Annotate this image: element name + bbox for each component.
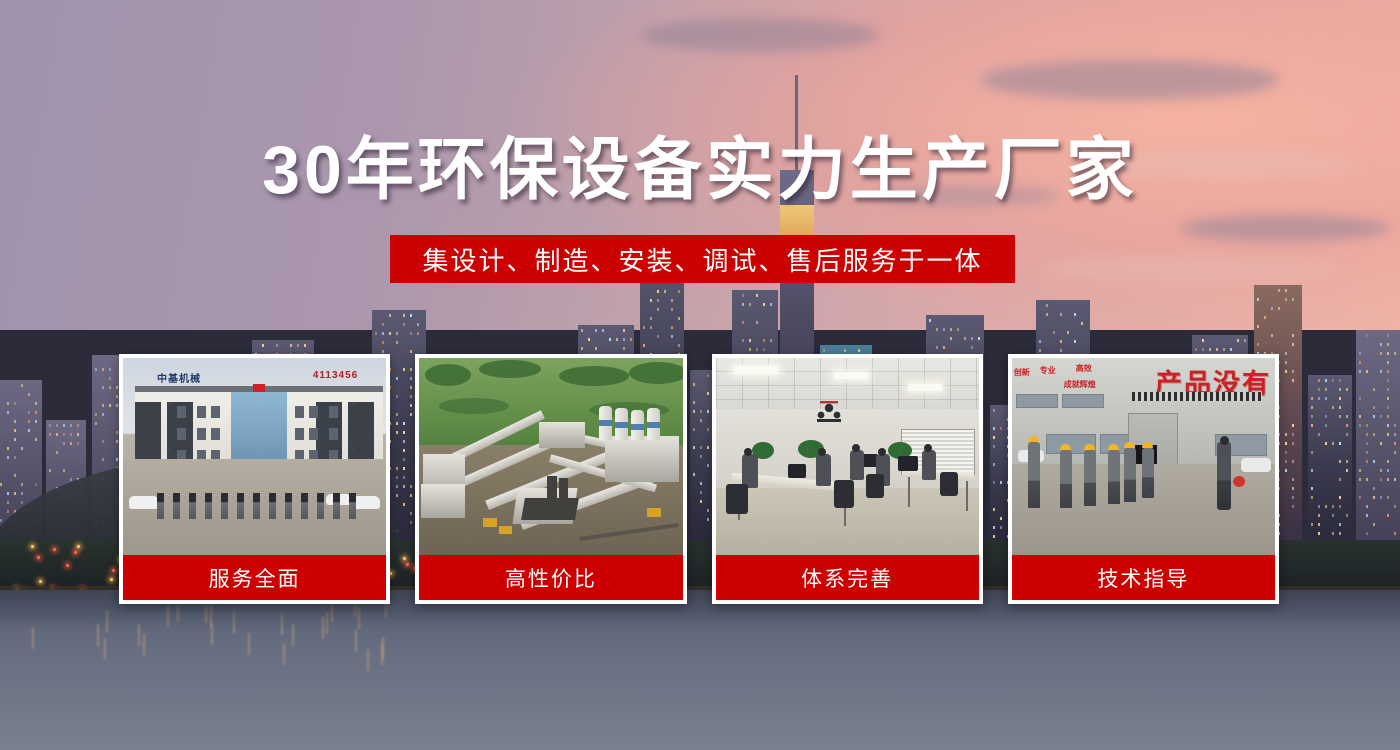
building-window [1230,348,1232,351]
building-window [1271,334,1273,337]
building-window [1387,433,1389,436]
building-window [1394,442,1396,445]
building-window [1285,361,1287,364]
building-window [1292,460,1294,463]
building-window [290,344,292,347]
feature-card-service[interactable]: 中基机械 4113456 [119,354,390,604]
building-window [1366,505,1368,508]
wall-slogan-2: 专业 [1040,366,1056,375]
building-window [1074,340,1076,343]
building-window [102,404,104,407]
building-window [1387,424,1389,427]
water-reflection [367,649,369,671]
building-window [1373,388,1375,391]
building-window [1346,460,1348,463]
building-window [1387,469,1389,472]
wall-slogan-1: 创新 [1014,368,1030,377]
building-window [1292,379,1294,382]
water-reflection [97,624,99,646]
building-window [1325,415,1327,418]
building-window [1380,496,1382,499]
building-window [1339,505,1341,508]
building-window [21,447,23,450]
street-lamp [77,545,80,548]
water-reflection [143,634,145,656]
building-window [410,332,412,335]
building-window [1366,442,1368,445]
building-window [1332,532,1334,535]
water-reflection [138,624,140,646]
building-window [102,368,104,371]
building-phone-text: 4113456 [313,370,358,381]
water-reflection [205,601,207,623]
building-window [957,328,959,331]
building-window [1285,451,1287,454]
building-window [1394,352,1396,355]
building-window [49,433,51,436]
building-window [304,344,306,347]
building-window [763,348,765,351]
building-window [1387,514,1389,517]
building-window [1346,388,1348,391]
building-window [1318,532,1320,535]
building-window [77,442,79,445]
building-window [1292,334,1294,337]
building-window [964,337,966,340]
building-window [657,299,659,302]
building-window [102,413,104,416]
building-window [643,344,645,347]
building-window [1387,478,1389,481]
building-window [1359,397,1361,400]
street-lamp [39,580,42,583]
building-window [14,420,16,423]
building-window [7,510,9,513]
building-window [109,377,111,380]
page-title: 30年环保设备实力生产厂家 [0,136,1400,204]
building-window [1373,460,1375,463]
building-window [1257,298,1259,301]
building-window [971,346,973,349]
building-window [588,338,590,341]
street-lamp [31,545,34,548]
building-window [77,424,79,427]
building-window [1359,352,1361,355]
building-window [28,393,30,396]
building-window [1202,348,1204,351]
building-window [1359,496,1361,499]
building-window [1387,406,1389,409]
building-window [1387,397,1389,400]
building-window [382,341,384,344]
street-lamp [110,578,113,581]
wall-decal-icon [812,400,846,426]
building-window [1292,424,1294,427]
building-window [21,492,23,495]
building-window [116,431,118,434]
building-window [403,323,405,326]
building-window [1060,349,1062,352]
building-window [1257,343,1259,346]
building-window [70,424,72,427]
building-window [1292,487,1294,490]
building-window [21,384,23,387]
building-window [116,458,118,461]
building-window [978,337,980,340]
building-window [276,344,278,347]
building-window [1311,397,1313,400]
building-window [102,386,104,389]
building-window [1366,424,1368,427]
building-window [1380,442,1382,445]
building-window [1373,487,1375,490]
building-window [7,492,9,495]
building-window [1311,496,1313,499]
building-window [56,433,58,436]
building-window [858,349,860,352]
building-window [1339,496,1341,499]
building [1308,375,1352,540]
water-reflection [248,633,250,655]
card-caption: 服务全面 [123,555,386,600]
building-window [1292,343,1294,346]
card-caption: 技术指导 [1012,555,1275,600]
building-window [1332,406,1334,409]
building-window [1387,343,1389,346]
building-window [1074,313,1076,316]
building-window [971,337,973,340]
building-window [1046,313,1048,316]
building-window [410,350,412,353]
water-reflection [283,643,285,665]
water-reflection [355,630,357,652]
building-window [844,349,846,352]
water-reflection [106,610,108,632]
building-window [1394,505,1396,508]
street-lamp [74,551,77,554]
water-reflection [32,627,34,649]
building-window [1060,313,1062,316]
building-window [581,347,583,350]
building-window [262,344,264,347]
building-window [763,339,765,342]
building-window [1359,424,1361,427]
building-window [417,323,419,326]
building-window [1359,478,1361,481]
building-window [70,442,72,445]
building-window [1387,334,1389,337]
building-window [1366,370,1368,373]
water-reflection [281,613,283,635]
building-window [7,501,9,504]
building-window [382,350,384,353]
building-window [1332,442,1334,445]
building-window [1067,331,1069,334]
building-window [1202,339,1204,342]
building-window [1339,460,1341,463]
building-window [1325,388,1327,391]
building-window [650,326,652,329]
building-window [1346,415,1348,418]
building-window [396,332,398,335]
building-window [671,326,673,329]
building-window [14,429,16,432]
building-window [1387,496,1389,499]
building-window [1311,406,1313,409]
building-window [1373,433,1375,436]
hero-banner: 30年环保设备实力生产厂家 集设计、制造、安装、调试、售后服务于一体 [0,0,1400,750]
building-window [595,347,597,350]
building-window [1292,496,1294,499]
building-window [1237,339,1239,342]
building-window [616,338,618,341]
building-window [1366,532,1368,535]
building-window [109,404,111,407]
building-window [742,339,744,342]
wall-slogan-4: 成就辉煌 [1064,380,1096,389]
building-window [1359,469,1361,472]
building-window [936,346,938,349]
building-window [1039,349,1041,352]
building-window [1387,415,1389,418]
building-window [1387,370,1389,373]
building-window [664,290,666,293]
office-workspace-photo [716,358,979,555]
building-window [1339,397,1341,400]
building-window [943,328,945,331]
building-window [756,321,758,324]
building-window [1325,397,1327,400]
building-window [1325,379,1327,382]
building-window [1271,307,1273,310]
cloud [1040,255,1340,283]
building-window [609,338,611,341]
building-window [1039,340,1041,343]
building-window [63,469,65,472]
building-window [671,308,673,311]
building-window [623,329,625,332]
card-caption: 体系完善 [716,555,979,600]
building-window [1332,514,1334,517]
building-window [35,420,37,423]
building-window [936,328,938,331]
building-window [1373,415,1375,418]
building-window [643,326,645,329]
building-window [1394,532,1396,535]
feature-card-value[interactable]: 高性价比 [415,354,686,604]
building-window [1387,361,1389,364]
building-window [1339,532,1341,535]
building-window [1285,289,1287,292]
building-window [389,314,391,317]
building-window [77,433,79,436]
feature-card-system[interactable]: 体系完善 [712,354,983,604]
building-window [1339,478,1341,481]
aerial-production-plant-photo [419,358,682,555]
building-window [1325,424,1327,427]
building-window [63,433,65,436]
building-window [410,314,412,317]
building-window [1366,433,1368,436]
building-window [14,492,16,495]
building-window [1244,339,1246,342]
subtitle-text: 集设计、制造、安装、调试、售后服务于一体 [422,241,982,278]
building-window [581,329,583,332]
feature-card-training[interactable]: 产品没有 创新 专业 高效 成就辉煌 [1008,354,1279,604]
building-window [1223,348,1225,351]
building-window [1339,406,1341,409]
building-window [943,346,945,349]
building-window [1373,496,1375,499]
building-window [14,456,16,459]
building-window [1318,379,1320,382]
building-window [1387,388,1389,391]
building-window [389,332,391,335]
building-window [63,442,65,445]
building-window [1195,348,1197,351]
building-window [0,483,2,486]
company-headquarters-photo: 中基机械 4113456 [123,358,386,555]
building-window [1046,304,1048,307]
building-window [1359,361,1361,364]
building-window [671,299,673,302]
building-window [742,294,744,297]
building-window [950,328,952,331]
building-window [28,420,30,423]
building-window [929,319,931,322]
building-window [95,422,97,425]
building-window [297,344,299,347]
building [1356,330,1400,540]
building-window [1380,352,1382,355]
building-window [650,299,652,302]
building-window [35,411,37,414]
building-window [1292,370,1294,373]
building-window [756,348,758,351]
building-window [678,290,680,293]
building-window [1318,397,1320,400]
building-window [1346,469,1348,472]
building-window [102,458,104,461]
building-window [7,402,9,405]
building-window [396,341,398,344]
street-lamp [37,556,40,559]
building-window [382,332,384,335]
building-window [56,451,58,454]
building-window [1285,370,1287,373]
building-window [1373,406,1375,409]
building-window [1292,478,1294,481]
building-window [657,290,659,293]
water-reflection [382,637,384,659]
building-window [1346,514,1348,517]
cloud [1180,215,1390,241]
building-window [1394,424,1396,427]
water-reflection [233,612,235,634]
building-window [1081,322,1083,325]
building-window [95,413,97,416]
building-window [1387,352,1389,355]
building-window [1380,370,1382,373]
building-window [1285,460,1287,463]
building-window [0,519,2,522]
building-window [1339,442,1341,445]
building-window [1387,460,1389,463]
building-window [1318,523,1320,526]
building-window [14,438,16,441]
water-reflection [167,605,169,627]
building-window [657,335,659,338]
building-window [403,314,405,317]
building-window [1318,505,1320,508]
building-window [950,337,952,340]
building-window [1325,505,1327,508]
building-window [21,483,23,486]
building-window [70,433,72,436]
building-window [1292,442,1294,445]
building-window [7,456,9,459]
building-window [1359,370,1361,373]
building-window [1380,478,1382,481]
building-sign-text: 中基机械 [157,370,201,385]
building-window [1332,505,1334,508]
water-reflection [322,617,324,639]
building-window [102,440,104,443]
building-window [1257,325,1259,328]
building-window [742,303,744,306]
building-window [1366,514,1368,517]
building-window [1339,523,1341,526]
building-window [770,303,772,306]
building-window [1380,469,1382,472]
building-window [21,501,23,504]
building-window [1311,424,1313,427]
building-window [1264,316,1266,319]
building-window [1346,433,1348,436]
building-window [1366,451,1368,454]
building-window [1311,469,1313,472]
building-window [1394,433,1396,436]
building-window [623,347,625,350]
building-window [1339,415,1341,418]
building-window [1285,442,1287,445]
building-window [382,323,384,326]
building-window [1394,451,1396,454]
building-window [35,483,37,486]
workshop-staff-training-photo: 产品没有 创新 专业 高效 成就辉煌 [1012,358,1275,555]
building-window [1318,514,1320,517]
building-window [749,339,751,342]
building-window [678,317,680,320]
building-window [1285,433,1287,436]
water-reflection [104,638,106,660]
building-window [1380,343,1382,346]
building-window [623,338,625,341]
building-window [1318,433,1320,436]
water-reflection [211,623,213,645]
building-window [671,335,673,338]
building-window [14,474,16,477]
subtitle-banner: 集设计、制造、安装、调试、售后服务于一体 [390,235,1015,283]
building-window [1380,415,1382,418]
building-window [109,368,111,371]
building-window [749,303,751,306]
building-window [7,411,9,414]
building-window [1318,388,1320,391]
water-reflection [326,612,328,634]
wall-slogan-3: 高效 [1076,364,1092,373]
building-window [763,303,765,306]
